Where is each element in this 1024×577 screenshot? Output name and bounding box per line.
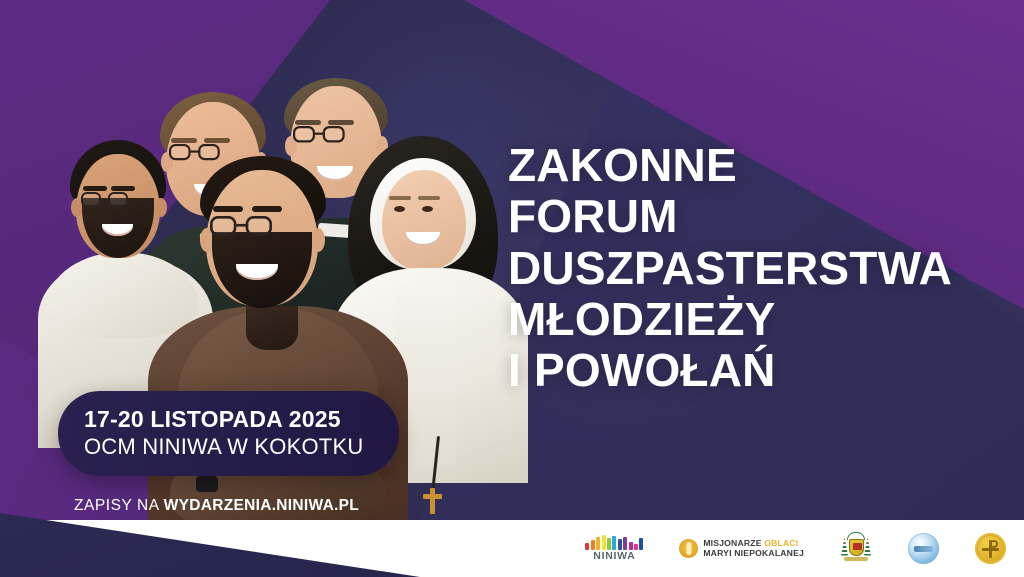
logo-bishop-coat-of-arms: [840, 532, 872, 566]
poster-canvas: ZAKONNE FORUM DUSZPASTERSTWA MŁODZIEŻY I…: [0, 0, 1024, 577]
oblaci-line1-plain: MISJONARZE: [703, 538, 764, 548]
logo-blue-circle: [908, 533, 939, 564]
headline-line-4: MŁODZIEŻY: [508, 294, 1008, 345]
tassel-icon: [841, 538, 848, 556]
signup-line: ZAPISY NA WYDARZENIA.NINIWA.PL: [74, 497, 359, 515]
event-venue: OCM NINIWA W KOKOTKU: [84, 434, 399, 460]
oblaci-line2: MARYI NIEPOKALANEJ: [703, 549, 804, 558]
eyebrow: [389, 196, 411, 200]
niniwa-wordmark: NINIWA: [593, 550, 635, 562]
eyebrow: [204, 138, 230, 143]
signup-url[interactable]: WYDARZENIA.NINIWA.PL: [164, 497, 359, 514]
motto-scroll: [844, 557, 868, 561]
eye: [422, 206, 433, 212]
event-dates: 17-20 LISTOPADA 2025: [84, 407, 399, 433]
oblaci-emblem-icon: [679, 539, 698, 558]
habit-neckline: [246, 306, 298, 350]
event-headline: ZAKONNE FORUM DUSZPASTERSTWA MŁODZIEŻY I…: [508, 140, 1008, 396]
shield-icon: [849, 539, 864, 556]
eyebrow: [83, 186, 107, 191]
eyebrow: [252, 206, 282, 212]
ear: [311, 228, 325, 252]
blue-circle-emblem-icon: [908, 533, 939, 564]
oblaci-line1-gold: OBLACI: [764, 538, 798, 548]
eyebrow: [418, 196, 440, 200]
headline-line-1: ZAKONNE: [508, 140, 1008, 191]
eyebrow: [111, 186, 135, 191]
headline-line-3: DUSZPASTERSTWA: [508, 243, 1008, 294]
cross-icon: [423, 494, 442, 499]
logo-niniwa: NINIWA: [585, 535, 643, 563]
face: [382, 170, 466, 270]
chi-rho-seal-icon: [975, 533, 1006, 564]
tassel-icon: [864, 538, 871, 556]
headline-line-2: FORUM: [508, 191, 1008, 242]
eye: [394, 206, 405, 212]
eyebrow: [295, 120, 321, 125]
wristwatch: [196, 476, 218, 492]
niniwa-bars-icon: [585, 535, 643, 550]
eyebrow: [213, 206, 243, 212]
partner-logos: NINIWA MISJONARZE OBLACI MARYI NIEPOKALA…: [585, 520, 1006, 577]
signup-prefix: ZAPISY NA: [74, 497, 164, 514]
cross-icon: [430, 488, 435, 514]
headline-line-5: I POWOŁAŃ: [508, 345, 1008, 396]
logo-gold-seal: [975, 533, 1006, 564]
eyebrow: [328, 120, 354, 125]
date-venue-badge: 17-20 LISTOPADA 2025 OCM NINIWA W KOKOTK…: [58, 391, 399, 476]
logo-oblaci: MISJONARZE OBLACI MARYI NIEPOKALANEJ: [679, 539, 804, 558]
